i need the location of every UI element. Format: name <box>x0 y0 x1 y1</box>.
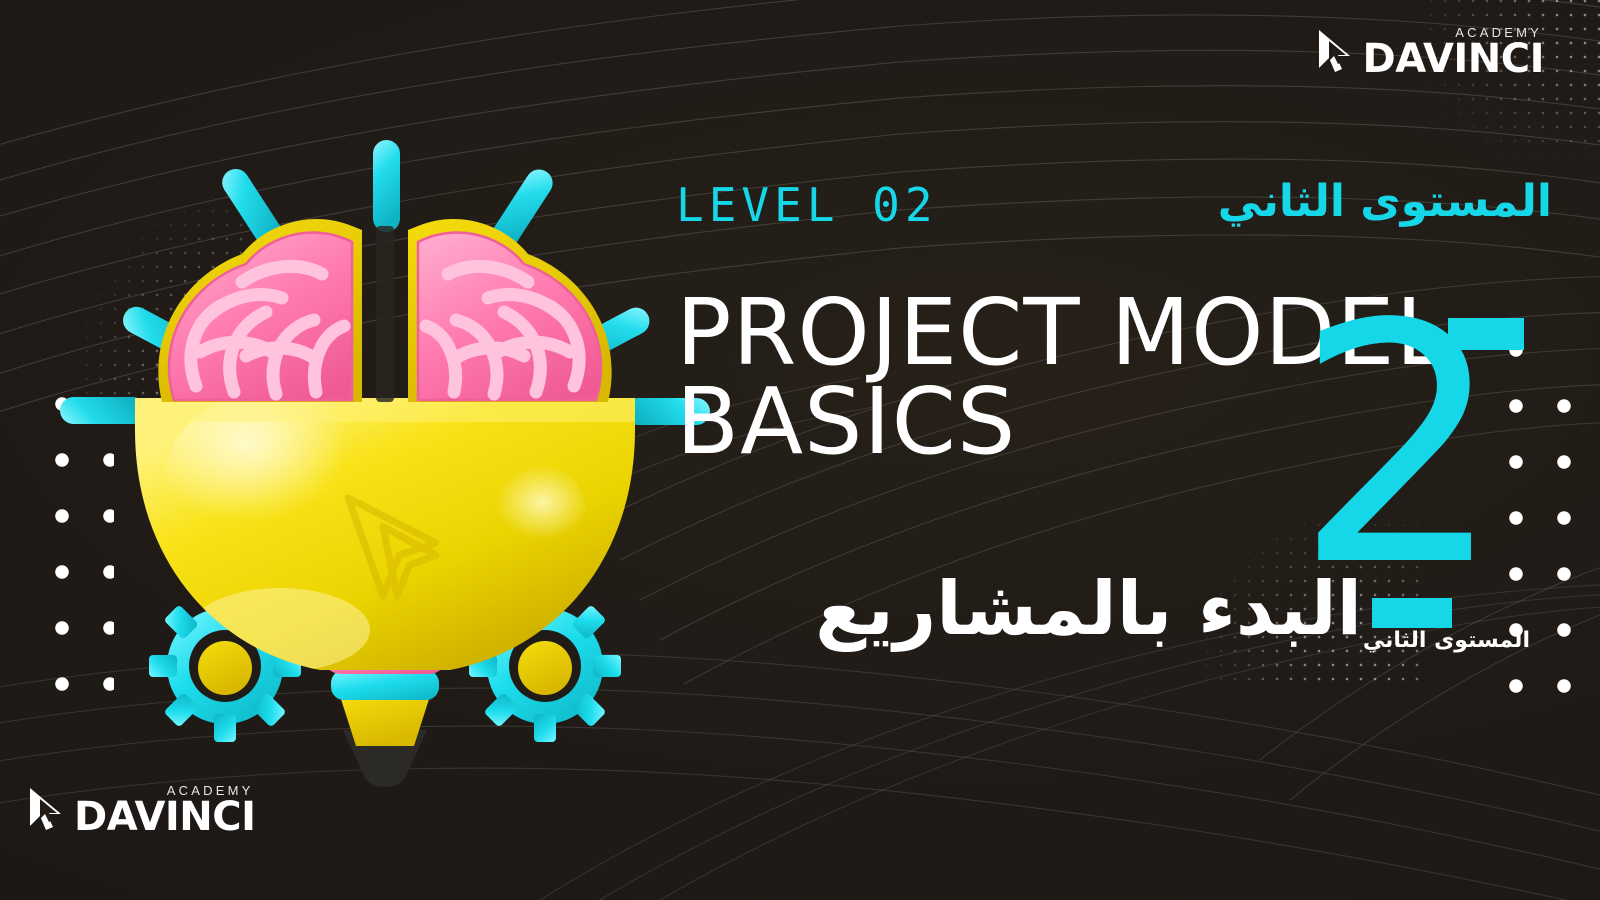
logo-wordmark-wrap: ACADEMY DAVINCI <box>74 797 256 837</box>
brain-lightbulb-illustration <box>100 130 670 740</box>
cursor-logo-icon <box>1313 28 1359 79</box>
logo-wordmark: DAVINCI <box>74 794 256 840</box>
cursor-logo-icon <box>24 786 70 837</box>
logo-bottom-left[interactable]: ACADEMY DAVINCI <box>24 786 256 837</box>
level-number-caption: المستوى الثاني <box>1363 628 1530 653</box>
slide-canvas: LEVEL 02 PROJECT MODEL BASICS المستوى ال… <box>0 0 1600 900</box>
logo-tagline: ACADEMY <box>167 784 254 797</box>
logo-tagline: ACADEMY <box>1455 26 1542 39</box>
dot-column-right-2 <box>1538 378 1580 726</box>
arabic-level-label: المستوى الثاني <box>1218 176 1552 227</box>
brain <box>158 219 611 402</box>
logo-wordmark-wrap: ACADEMY DAVINCI <box>1363 39 1545 79</box>
logo-top-right[interactable]: ACADEMY DAVINCI <box>1313 28 1545 79</box>
arabic-subtitle: البدء بالمشاريع <box>815 566 1362 652</box>
level-eyebrow: LEVEL 02 <box>676 178 938 232</box>
logo-wordmark: DAVINCI <box>1363 36 1545 82</box>
level-number-badge: 2 <box>1294 318 1504 575</box>
